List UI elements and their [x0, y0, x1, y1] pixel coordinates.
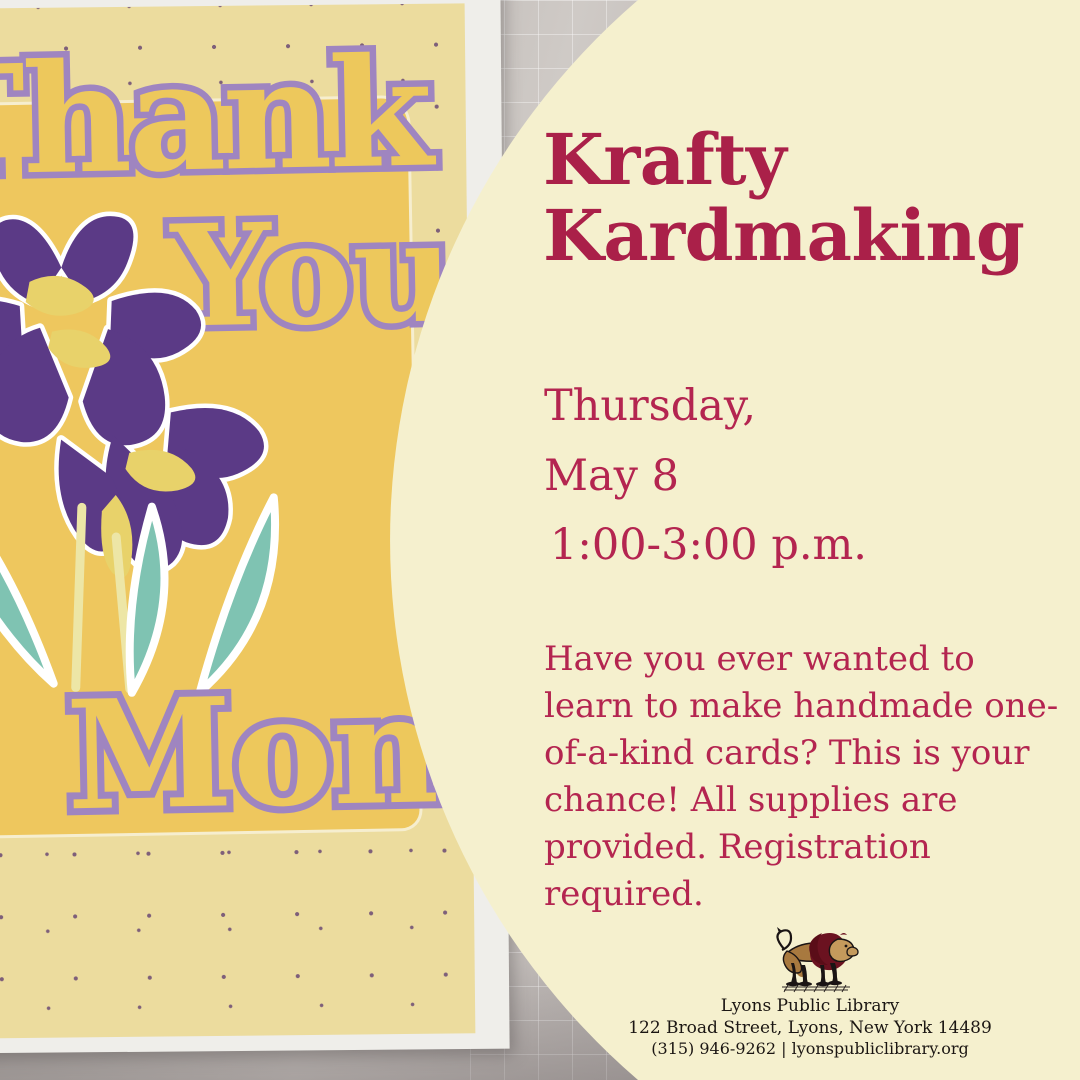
iris-illustration [0, 175, 346, 699]
event-description: Have you ever wanted to learn to make ha… [544, 636, 1064, 917]
page-title: Krafty Kardmaking [543, 122, 1063, 273]
footer-address: 122 Broad Street, Lyons, New York 14489 [540, 1017, 1080, 1039]
title-line-1: Krafty [543, 122, 1063, 198]
card-face: Thank You [0, 3, 475, 1038]
event-date: May 8 [544, 442, 1064, 512]
event-datetime: Thursday, May 8 1:00-3:00 p.m. [544, 372, 1064, 581]
flyer-content: Krafty Kardmaking Thursday, May 8 1:00-3… [540, 0, 1080, 1080]
card-word-mom: Mom [65, 673, 475, 831]
footer-org: Lyons Public Library [540, 995, 1080, 1017]
footer-text: Lyons Public Library 122 Broad Street, L… [540, 995, 1080, 1060]
footer: Lyons Public Library 122 Broad Street, L… [540, 925, 1080, 1060]
lion-icon [760, 925, 860, 993]
event-flyer: Thank You [0, 0, 1080, 1080]
title-line-2: Kardmaking [543, 198, 1063, 274]
footer-contact: (315) 946-9262 | lyonspubliclibrary.org [540, 1039, 1080, 1060]
event-time: 1:00-3:00 p.m. [544, 511, 1064, 581]
event-day: Thursday, [544, 372, 1064, 442]
card-word-thank: Thank [0, 37, 431, 197]
